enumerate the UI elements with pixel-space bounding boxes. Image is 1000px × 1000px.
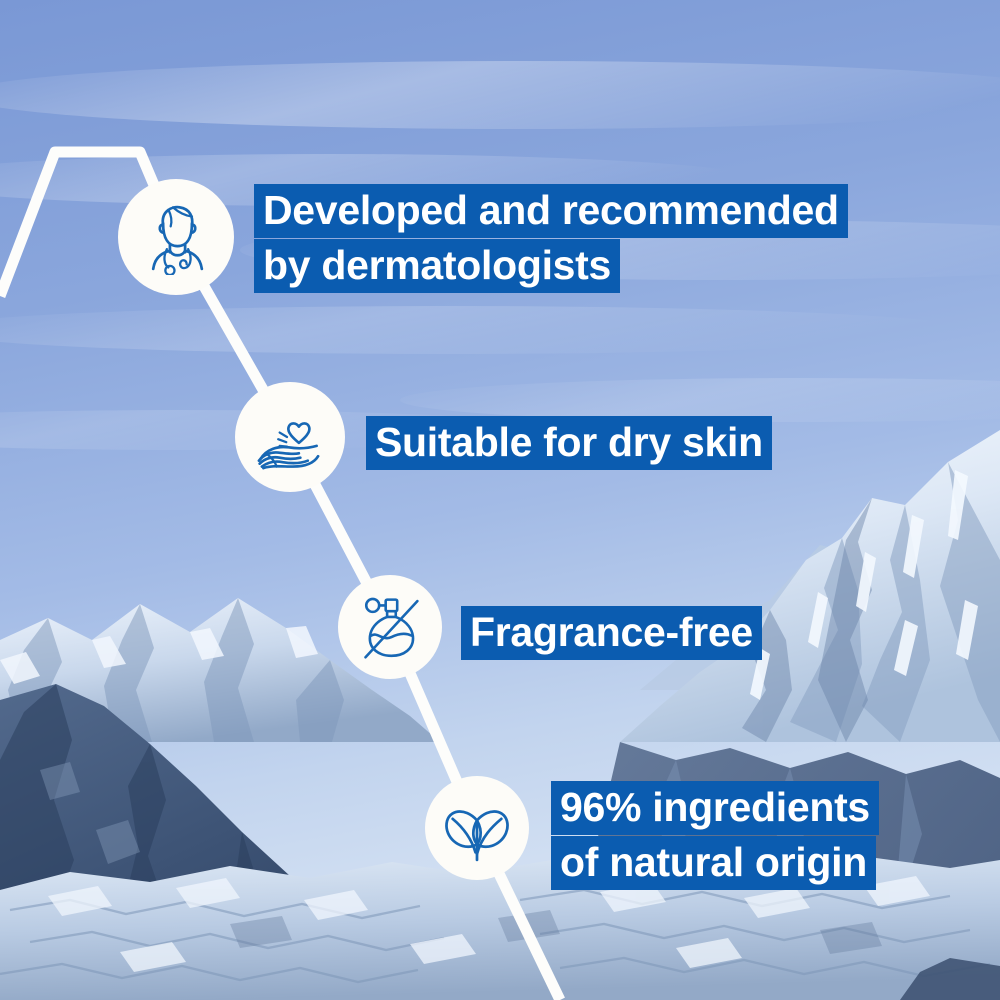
benefit-icon-bubble-dermatologist: [118, 179, 234, 295]
callout-line: by dermatologists: [254, 239, 620, 293]
leaves-sprout-icon: [439, 790, 515, 866]
callout-line: Fragrance-free: [461, 606, 762, 660]
benefit-callout-natural-origin: 96% ingredients of natural origin: [551, 781, 879, 890]
benefit-icon-bubble-natural-origin: [425, 776, 529, 880]
callout-line: Developed and recommended: [254, 184, 848, 238]
hand-heart-icon: [253, 400, 327, 474]
perfume-bottle-crossed-out-icon: [354, 591, 426, 663]
benefit-callout-dermatologist: Developed and recommended by dermatologi…: [254, 184, 848, 293]
callout-line: of natural origin: [551, 836, 876, 890]
benefit-icon-bubble-fragrance-free: [338, 575, 442, 679]
benefit-callout-fragrance-free: Fragrance-free: [461, 606, 762, 660]
doctor-stethoscope-icon: [138, 199, 214, 275]
benefit-icon-bubble-dry-skin: [235, 382, 345, 492]
callout-line: Suitable for dry skin: [366, 416, 772, 470]
callout-line: 96% ingredients: [551, 781, 879, 835]
benefit-callout-dry-skin: Suitable for dry skin: [366, 416, 772, 470]
infographic-canvas: Developed and recommended by dermatologi…: [0, 0, 1000, 1000]
